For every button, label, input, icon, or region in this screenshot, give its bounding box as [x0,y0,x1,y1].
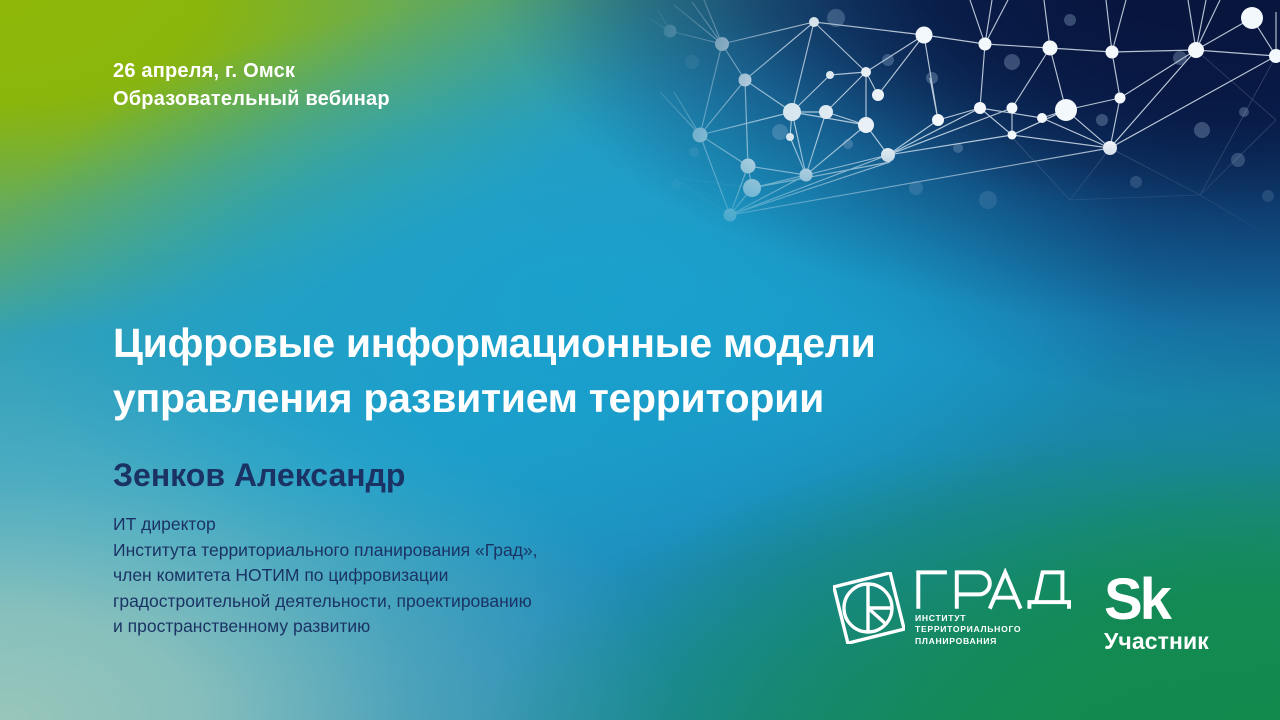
title-line-1: Цифровые информационные модели [113,316,876,371]
skolkovo-sk-wordmark-icon: Sk [1104,574,1188,626]
grad-wordmark-grad [915,568,1080,612]
bio-line: градостроительной деятельности, проектир… [113,589,538,615]
grad-compass-icon [833,572,905,644]
eyebrow-event: Образовательный вебинар [113,85,390,113]
title-line-2: управления развитием территории [113,371,876,426]
bio-line: ИТ директор [113,512,538,538]
skolkovo-logo: Sk Участник [1104,574,1209,654]
grad-logo: ИНСТИТУТ ТЕРРИТОРИАЛЬНОГО ПЛАНИРОВАНИЯ [833,568,1080,647]
presentation-slide: 26 апреля, г. Омск Образовательный вебин… [0,0,1280,720]
svg-text:Sk: Sk [1104,574,1173,626]
skolkovo-label: Участник [1104,628,1209,654]
bio-line: Института территориального планирования … [113,538,538,564]
speaker-bio: ИТ директор Института территориального п… [113,512,538,640]
slide-title: Цифровые информационные модели управлени… [113,316,876,426]
grad-wordmark-block: ИНСТИТУТ ТЕРРИТОРИАЛЬНОГО ПЛАНИРОВАНИЯ [915,568,1080,647]
slide-eyebrow: 26 апреля, г. Омск Образовательный вебин… [113,57,390,113]
eyebrow-date: 26 апреля, г. Омск [113,57,390,85]
grad-subtitle-line: ТЕРРИТОРИАЛЬНОГО [915,624,1080,635]
network-nodes-graphic [640,0,1280,250]
bio-line: и пространственному развитию [113,614,538,640]
speaker-name: Зенков Александр [113,455,405,495]
grad-subtitle-line: ПЛАНИРОВАНИЯ [915,636,1080,647]
grad-subtitle: ИНСТИТУТ ТЕРРИТОРИАЛЬНОГО ПЛАНИРОВАНИЯ [915,613,1080,647]
bio-line: член комитета НОТИМ по цифровизации [113,563,538,589]
grad-subtitle-line: ИНСТИТУТ [915,613,1080,624]
